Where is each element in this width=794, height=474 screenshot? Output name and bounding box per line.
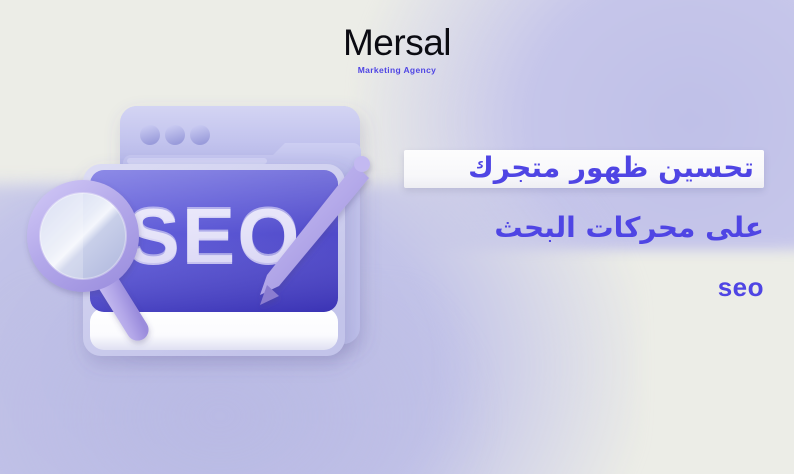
brand-logo: Mersal Marketing Agency — [0, 24, 794, 75]
window-dot-1 — [140, 125, 160, 145]
headline-line2: على محركات البحث — [404, 214, 764, 242]
brand-name: Mersal — [0, 24, 794, 61]
seo-marketing-banner: Mersal Marketing Agency تحسين ظهور متجرك… — [0, 0, 794, 474]
window-dot-3 — [190, 125, 210, 145]
headline-line1-highlight: تحسين ظهور متجرك — [404, 150, 764, 188]
window-dot-2 — [165, 125, 185, 145]
brand-tagline: Marketing Agency — [0, 65, 794, 75]
seo-illustration: SEO SEO — [28, 92, 418, 392]
headline-line1: تحسين ظهور متجرك — [468, 151, 754, 184]
headline-seo-keyword: seo — [404, 272, 764, 303]
headline-block: تحسين ظهور متجرك على محركات البحث seo — [404, 150, 764, 303]
